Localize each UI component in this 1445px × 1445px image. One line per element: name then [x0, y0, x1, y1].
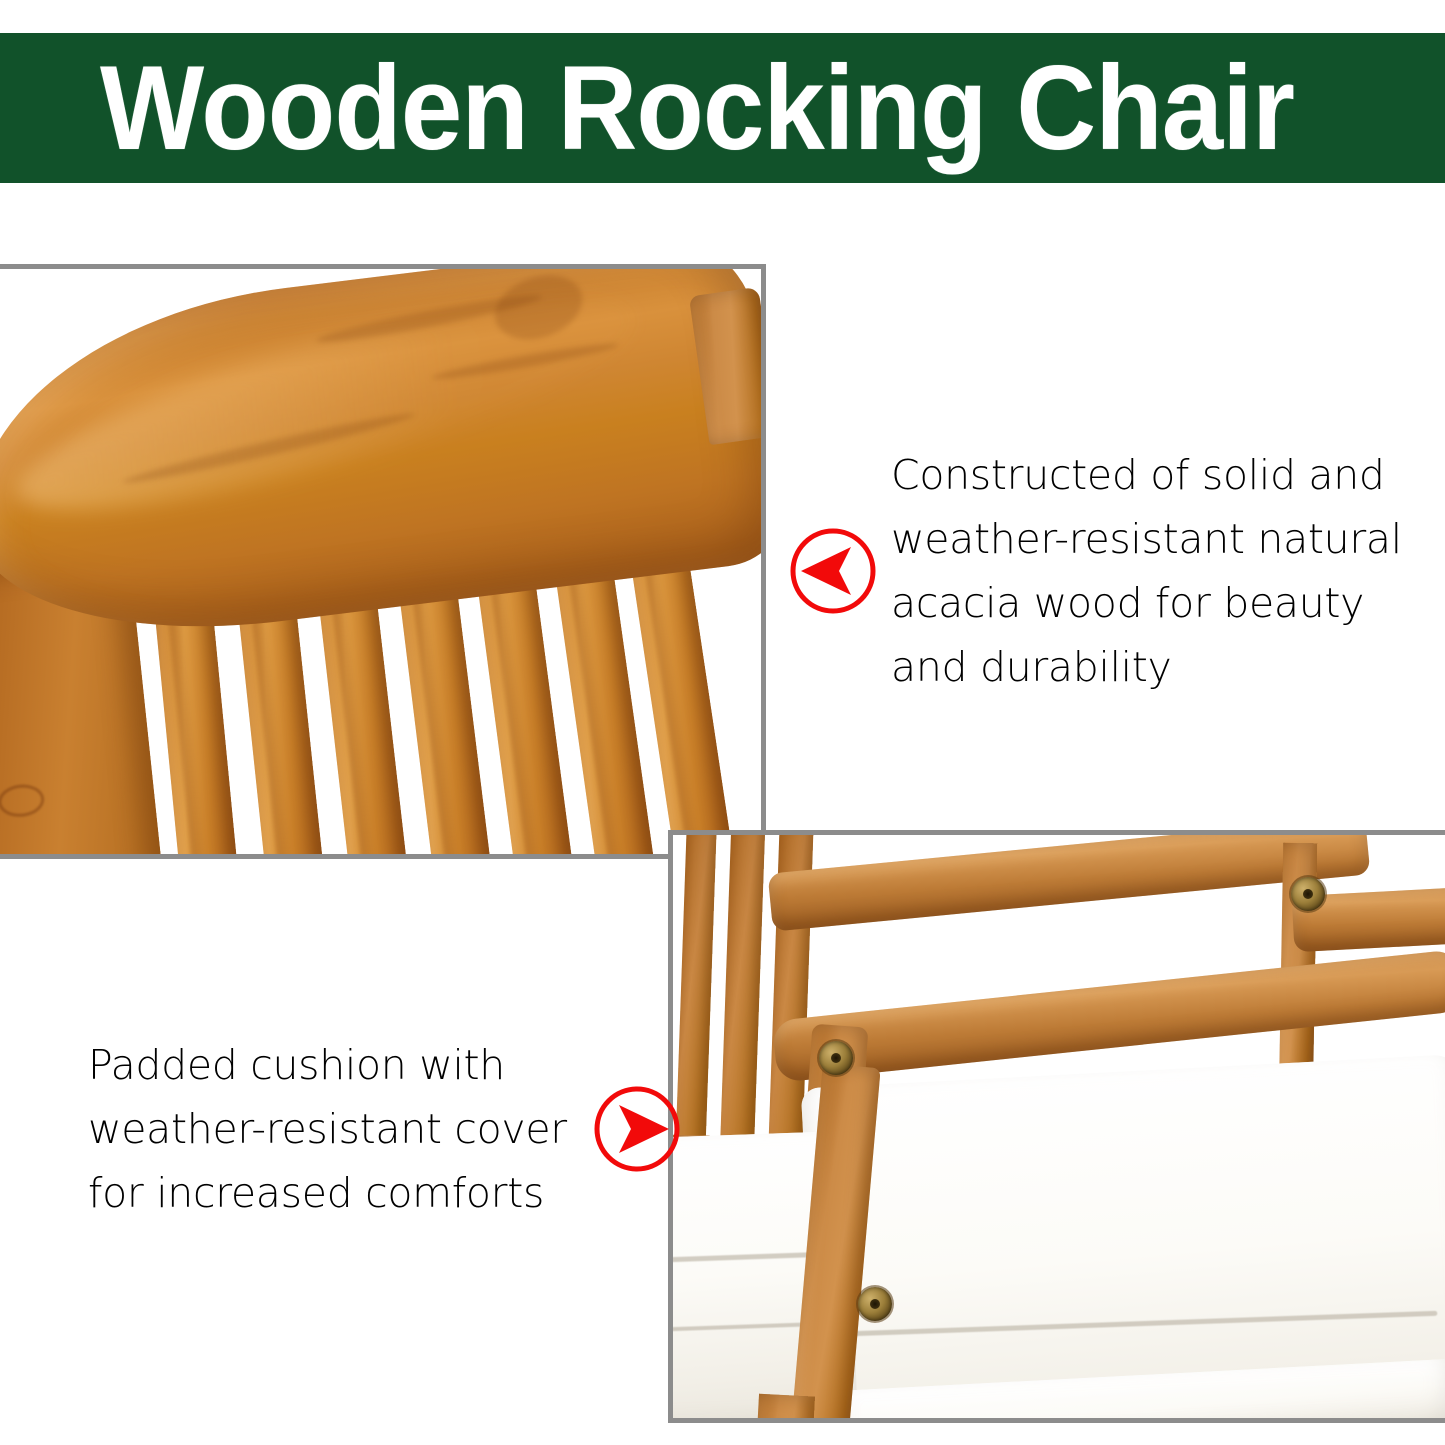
brass-bolt [1291, 877, 1325, 911]
wood-knot [0, 782, 46, 819]
brass-bolt [819, 1041, 853, 1075]
seat-illustration [673, 835, 1445, 1418]
chair-seat-photo-panel [668, 830, 1445, 1423]
header-banner: Wooden Rocking Chair [0, 33, 1445, 183]
arrow-right-circle-icon [593, 1085, 681, 1173]
chair-seat-image [673, 835, 1445, 1418]
chair-back-image [0, 269, 761, 854]
callout-cushion: Padded cushion with weather-resistant co… [88, 1033, 681, 1225]
callout-wood-text: Constructed of solid and weather-resista… [891, 443, 1402, 699]
backrest-illustration [0, 269, 761, 854]
back-top-rail [768, 835, 1371, 932]
chair-back-photo-panel [0, 264, 766, 859]
back-slat [675, 835, 716, 1155]
cushion-seam [838, 1311, 1438, 1337]
callout-cushion-text: Padded cushion with weather-resistant co… [88, 1033, 567, 1225]
arrow-left-circle-icon [789, 527, 877, 615]
callout-wood: Constructed of solid and weather-resista… [789, 443, 1402, 699]
brass-bolt [858, 1287, 892, 1321]
page-title: Wooden Rocking Chair [100, 48, 1294, 168]
